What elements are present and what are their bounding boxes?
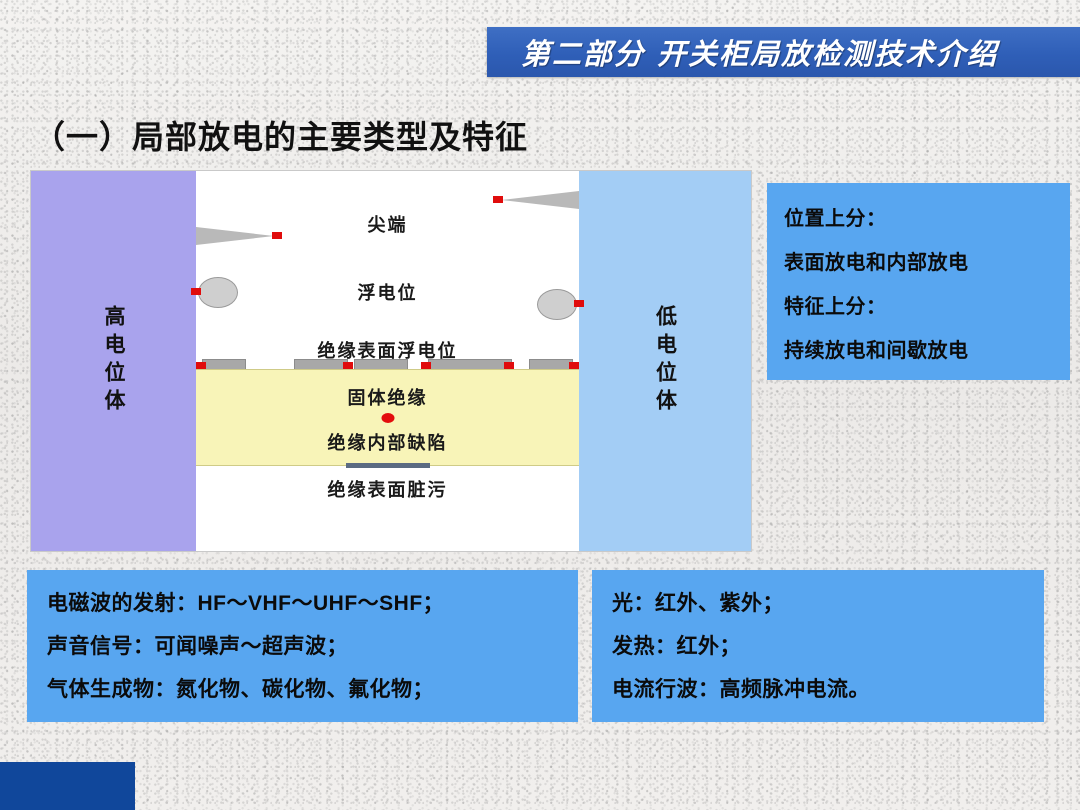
low-potential-label: 低电位体 <box>653 305 676 417</box>
diagram-label-solid-insulation: 固体绝缘 <box>348 384 428 410</box>
surface-discharge-marker <box>421 362 431 369</box>
diagram-label-surface-contamination: 绝缘表面脏污 <box>328 476 448 502</box>
classification-line: 表面放电和内部放电 <box>784 241 1070 285</box>
surface-contamination-bar <box>346 463 430 468</box>
floating-electrode-left-icon <box>198 277 238 308</box>
header-banner-title: 第二部分 开关柜局放检测技术介绍 <box>521 31 998 73</box>
discharge-marker-tip-left <box>272 232 282 239</box>
discharge-marker-float-right <box>574 300 584 307</box>
surface-discharge-marker <box>196 362 206 369</box>
slide-canvas: 第二部分 开关柜局放检测技术介绍 （一）局部放电的主要类型及特征 高电位体 低电… <box>0 0 1080 810</box>
optical-thermal-signal-line: 光：红外、紫外； <box>612 582 1044 625</box>
surface-discharge-marker <box>504 362 514 369</box>
needle-tip-right-icon <box>501 191 579 209</box>
discharge-marker-tip-right <box>493 196 503 203</box>
high-potential-label: 高电位体 <box>102 305 125 417</box>
optical-thermal-signal-line: 发热：红外； <box>612 625 1044 668</box>
optical-thermal-signals-panel: 光：红外、紫外； 发热：红外； 电流行波：高频脉冲电流。 <box>592 570 1044 722</box>
emission-signal-line: 电磁波的发射：HF～VHF～UHF～SHF； <box>47 582 578 625</box>
optical-thermal-signal-line: 电流行波：高频脉冲电流。 <box>612 668 1044 711</box>
diagram-label-tip: 尖端 <box>368 211 408 237</box>
partial-discharge-diagram: 高电位体 低电位体 <box>30 170 752 552</box>
page-title: （一）局部放电的主要类型及特征 <box>33 112 528 158</box>
emission-signal-line: 气体生成物：氮化物、碳化物、氟化物； <box>47 668 578 711</box>
floating-electrode-right-icon <box>537 289 577 320</box>
low-potential-electrode: 低电位体 <box>577 171 751 551</box>
classification-line: 特征上分： <box>784 285 1070 329</box>
internal-defect-marker <box>381 413 394 423</box>
corner-decoration <box>0 762 135 810</box>
diagram-label-floating-potential: 浮电位 <box>358 279 418 305</box>
classification-line: 位置上分： <box>784 197 1070 241</box>
header-banner: 第二部分 开关柜局放检测技术介绍 <box>487 27 1080 77</box>
emission-signal-line: 声音信号：可闻噪声～超声波； <box>47 625 578 668</box>
classification-panel: 位置上分： 表面放电和内部放电 特征上分： 持续放电和间歇放电 <box>767 183 1070 380</box>
high-potential-electrode: 高电位体 <box>31 171 198 551</box>
diagram-label-surface-floating-potential: 绝缘表面浮电位 <box>318 337 458 363</box>
needle-tip-left-icon <box>196 227 274 245</box>
discharge-marker-float-left <box>191 288 201 295</box>
diagram-label-internal-defect: 绝缘内部缺陷 <box>328 429 448 455</box>
surface-discharge-marker <box>343 362 353 369</box>
emission-signals-panel: 电磁波的发射：HF～VHF～UHF～SHF； 声音信号：可闻噪声～超声波； 气体… <box>27 570 578 722</box>
classification-line: 持续放电和间歇放电 <box>784 329 1070 373</box>
surface-discharge-marker <box>569 362 579 369</box>
discharge-gap-region: 尖端 浮电位 绝缘表面浮电位 固体绝缘 绝缘内部缺陷 绝缘表面脏污 <box>196 171 579 551</box>
